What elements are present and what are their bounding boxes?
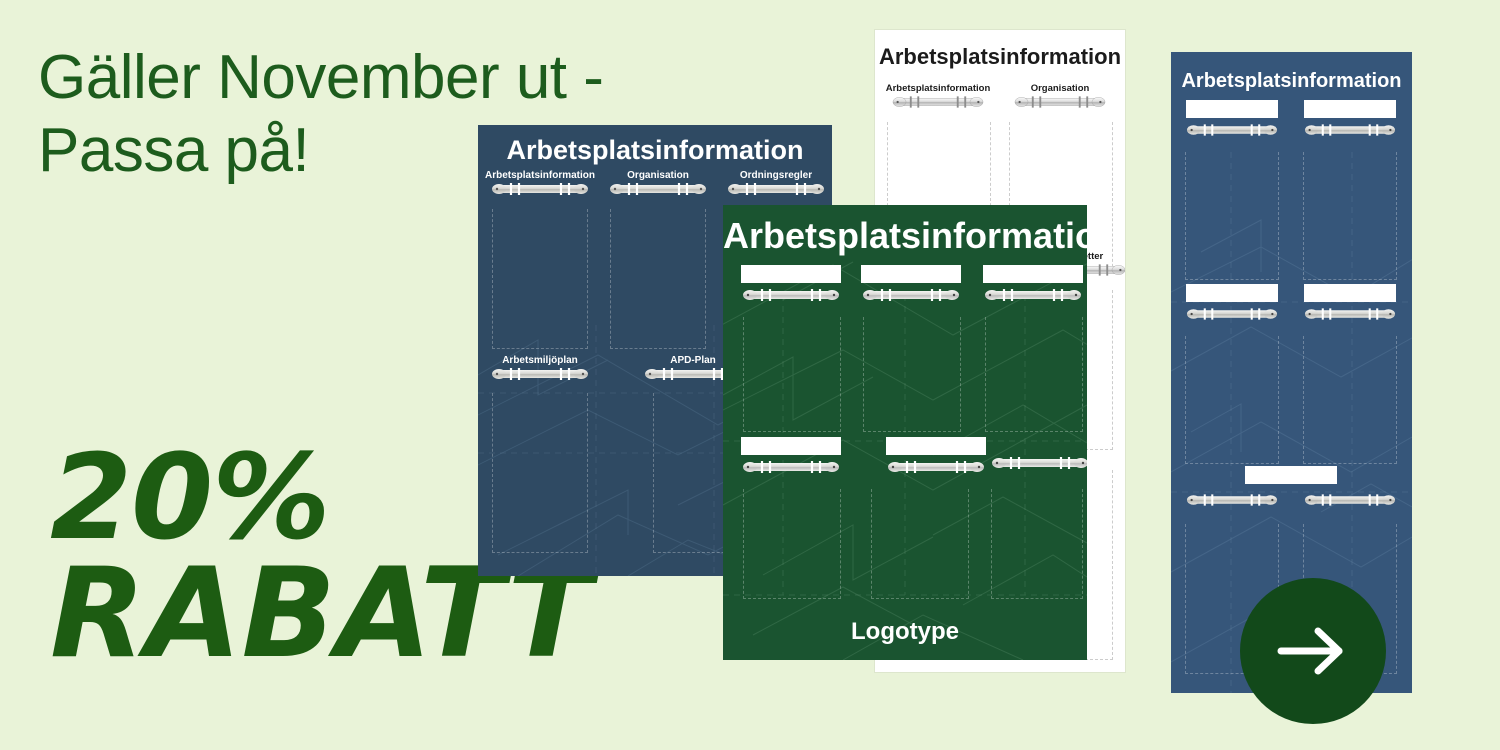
poster-title: Arbetsplatsinformation [1171, 70, 1412, 93]
slot-blank-label[interactable] [1186, 284, 1278, 302]
clip-holder-icon [1304, 492, 1396, 508]
poster-slot[interactable] [733, 265, 849, 303]
poster-slot[interactable]: Arbetsplatsinformation [482, 170, 598, 197]
clip-holder-icon [862, 287, 960, 303]
poster-slot[interactable]: Ordningsregler [718, 170, 832, 197]
slot-blank-label[interactable] [983, 265, 1083, 283]
slot-label: Arbetsplatsinformation [886, 84, 991, 94]
poster-slot[interactable] [1179, 100, 1285, 138]
slot-blank-label[interactable] [886, 437, 986, 455]
slot-label: Arbetsmiljöplan [502, 355, 578, 366]
clip-holder-icon [1186, 122, 1278, 138]
poster-slot[interactable] [1179, 492, 1285, 508]
slot-label: Ordningsregler [740, 170, 812, 181]
poster-slot[interactable]: Arbetsmiljöplan [482, 355, 598, 382]
poster-slot[interactable] [733, 437, 849, 475]
slot-blank-label[interactable] [1245, 466, 1337, 484]
clip-holder-icon [742, 459, 840, 475]
poster-slot[interactable] [1297, 100, 1403, 138]
clip-holder-icon [727, 181, 825, 197]
poster-slot[interactable] [853, 265, 969, 303]
slot-label: Arbetsplatsinformation [485, 170, 595, 181]
poster-slot[interactable] [1297, 284, 1403, 322]
next-arrow-button[interactable] [1240, 578, 1386, 724]
poster-slot[interactable]: Organisation [1001, 84, 1119, 110]
clip-holder-icon [609, 181, 707, 197]
clip-holder-icon [887, 459, 985, 475]
poster-title: Arbetsplatsinformation [723, 215, 1087, 257]
poster-slot[interactable] [1297, 492, 1403, 508]
clip-holder-icon [1304, 122, 1396, 138]
clip-holder-icon [1186, 492, 1278, 508]
poster-slot[interactable]: Arbetsplatsinformation [879, 84, 997, 110]
poster-title: Arbetsplatsinformation [478, 135, 832, 166]
clip-holder-icon [1304, 306, 1396, 322]
clip-holder-icon [1186, 306, 1278, 322]
slot-blank-label[interactable] [741, 265, 841, 283]
slot-blank-label[interactable] [1304, 284, 1396, 302]
arrow-right-icon [1275, 623, 1351, 679]
poster-slot[interactable]: Organisation [600, 170, 716, 197]
clip-holder-icon [491, 366, 589, 382]
poster-slot[interactable] [985, 455, 1087, 471]
poster-slot[interactable] [871, 437, 1001, 475]
slot-blank-label[interactable] [1186, 100, 1278, 118]
clip-holder-icon [991, 455, 1087, 471]
clip-holder-icon [984, 287, 1082, 303]
slot-blank-label[interactable] [741, 437, 841, 455]
slot-label: Organisation [1031, 84, 1090, 94]
poster-slot[interactable] [1179, 284, 1285, 322]
clip-holder-icon [892, 94, 984, 110]
clip-holder-icon [491, 181, 589, 197]
poster-title: Arbetsplatsinformation [875, 44, 1125, 70]
clip-holder-icon [1014, 94, 1106, 110]
poster-slot[interactable] [1211, 466, 1371, 484]
slot-label: Organisation [627, 170, 689, 181]
slot-blank-label[interactable] [1304, 100, 1396, 118]
poster-green[interactable]: Arbetsplatsinformation [723, 205, 1087, 660]
clip-holder-icon [742, 287, 840, 303]
poster-logotype: Logotype [723, 618, 1087, 646]
promo-banner: Gäller November ut - Passa på! 20% RABAT… [0, 0, 1500, 750]
slot-blank-label[interactable] [861, 265, 961, 283]
slot-label: APD-Plan [670, 355, 716, 366]
poster-slot[interactable] [975, 265, 1087, 303]
